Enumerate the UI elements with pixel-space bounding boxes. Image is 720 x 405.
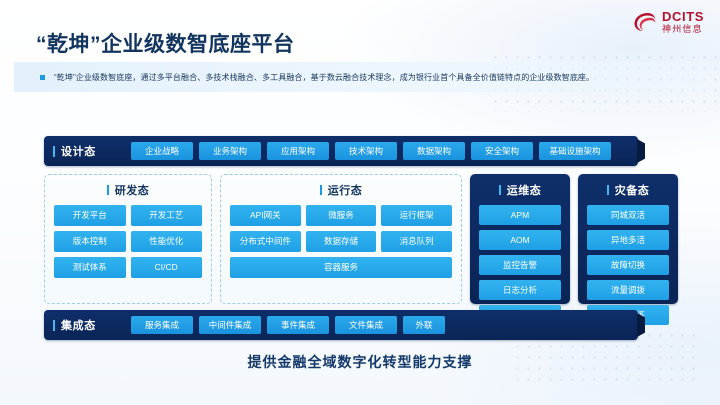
integration-layer-label-text: 集成态 [61, 317, 96, 333]
integration-item[interactable]: 中间件集成 [199, 316, 261, 334]
dev-panel-items: 开发平台 开发工艺 版本控制 性能优化 测试体系 CI/CD [54, 205, 202, 294]
brand-logo: DCITS 神州信息 [633, 10, 704, 34]
page-title: “乾坤”企业级数智底座平台 [36, 28, 295, 58]
accent-bar-icon [53, 320, 55, 331]
integration-layer-label: 集成态 [53, 317, 131, 333]
dr-item[interactable]: 流量调拨 [587, 280, 669, 300]
bullet-square-icon [40, 75, 45, 80]
runtime-panel-items: API网关 微服务 运行框架 分布式中间件 数据存储 消息队列 容器服务 [230, 205, 452, 294]
runtime-item[interactable]: API网关 [230, 205, 301, 226]
subtitle-band: “乾坤”企业级数智底座，通过多平台融合、多技术栈融合、多工具融合，基于数云融合技… [14, 62, 706, 92]
design-layer-label-text: 设计态 [61, 143, 96, 159]
dev-item[interactable]: 性能优化 [131, 231, 203, 252]
integration-layer-band: 集成态 服务集成 中间件集成 事件集成 文件集成 外联 [44, 310, 638, 340]
disaster-recovery-column-title-text: 灾备态 [615, 182, 650, 198]
runtime-item[interactable]: 消息队列 [381, 231, 452, 252]
dev-item[interactable]: 版本控制 [54, 231, 126, 252]
accent-bar-icon [320, 185, 322, 195]
dev-item[interactable]: 测试体系 [54, 257, 126, 278]
dev-panel-title-text: 研发态 [115, 182, 150, 198]
brand-name-en: DCITS [662, 10, 704, 23]
dev-item[interactable]: CI/CD [131, 257, 203, 278]
runtime-item[interactable]: 数据存储 [306, 231, 377, 252]
design-item[interactable]: 数据架构 [403, 142, 465, 160]
ops-item[interactable]: 监控告警 [479, 255, 561, 275]
middle-panel-row: 研发态 开发平台 开发工艺 版本控制 性能优化 测试体系 CI/CD 运行态 A… [44, 174, 678, 304]
runtime-item[interactable]: 分布式中间件 [230, 231, 301, 252]
dev-item[interactable]: 开发平台 [54, 205, 126, 226]
runtime-panel: 运行态 API网关 微服务 运行框架 分布式中间件 数据存储 消息队列 容器服务 [220, 174, 462, 304]
runtime-item[interactable]: 运行框架 [381, 205, 452, 226]
design-item[interactable]: 安全架构 [471, 142, 533, 160]
architecture-diagram: 设计态 企业战略 业务架构 应用架构 技术架构 数据架构 安全架构 基础设施架构… [44, 136, 678, 340]
design-item[interactable]: 基础设施架构 [539, 142, 611, 160]
integration-item[interactable]: 文件集成 [335, 316, 397, 334]
accent-bar-icon [607, 185, 609, 195]
runtime-panel-title-text: 运行态 [328, 182, 363, 198]
runtime-item[interactable]: 微服务 [306, 205, 377, 226]
ops-item[interactable]: AOM [479, 230, 561, 250]
dr-item[interactable]: 同城双活 [587, 205, 669, 225]
design-layer-label: 设计态 [53, 143, 131, 159]
dr-item[interactable]: 故障切换 [587, 255, 669, 275]
integration-item[interactable]: 服务集成 [131, 316, 193, 334]
integration-item[interactable]: 事件集成 [267, 316, 329, 334]
accent-bar-icon [107, 185, 109, 195]
brand-logo-text: DCITS 神州信息 [662, 10, 704, 34]
dr-item[interactable]: 异地多活 [587, 230, 669, 250]
design-layer-band: 设计态 企业战略 业务架构 应用架构 技术架构 数据架构 安全架构 基础设施架构 [44, 136, 638, 166]
footer-caption: 提供金融全域数字化转型能力支撑 [0, 352, 720, 372]
integration-item[interactable]: 外联 [403, 316, 445, 334]
ops-column-items: APM AOM 监控告警 日志分析 根因定位 [479, 205, 561, 325]
design-item[interactable]: 应用架构 [267, 142, 329, 160]
runtime-item-container-service[interactable]: 容器服务 [230, 257, 452, 278]
ops-column-title-text: 运维态 [507, 182, 542, 198]
subtitle-text: “乾坤”企业级数智底座，通过多平台融合、多技术栈融合、多工具融合，基于数云融合技… [54, 72, 594, 83]
disaster-recovery-column-items: 同城双活 异地多活 故障切换 流量调拨 容灾演练 [587, 205, 669, 325]
runtime-panel-title: 运行态 [230, 182, 452, 198]
design-item[interactable]: 业务架构 [199, 142, 261, 160]
disaster-recovery-column-title: 灾备态 [587, 182, 669, 198]
brand-name-cn: 神州信息 [662, 25, 704, 34]
dev-panel-title: 研发态 [54, 182, 202, 198]
dev-item[interactable]: 开发工艺 [131, 205, 203, 226]
ops-item[interactable]: APM [479, 205, 561, 225]
design-layer-items: 企业战略 业务架构 应用架构 技术架构 数据架构 安全架构 基础设施架构 [131, 142, 611, 160]
disaster-recovery-column: 灾备态 同城双活 异地多活 故障切换 流量调拨 容灾演练 [578, 174, 678, 304]
ops-column: 运维态 APM AOM 监控告警 日志分析 根因定位 [470, 174, 570, 304]
integration-layer-items: 服务集成 中间件集成 事件集成 文件集成 外联 [131, 316, 445, 334]
design-item[interactable]: 技术架构 [335, 142, 397, 160]
accent-bar-icon [499, 185, 501, 195]
accent-bar-icon [53, 146, 55, 157]
ops-column-title: 运维态 [479, 182, 561, 198]
swoosh-logo-icon [633, 11, 657, 33]
dev-panel: 研发态 开发平台 开发工艺 版本控制 性能优化 测试体系 CI/CD [44, 174, 212, 304]
ops-item[interactable]: 日志分析 [479, 280, 561, 300]
design-item[interactable]: 企业战略 [131, 142, 193, 160]
